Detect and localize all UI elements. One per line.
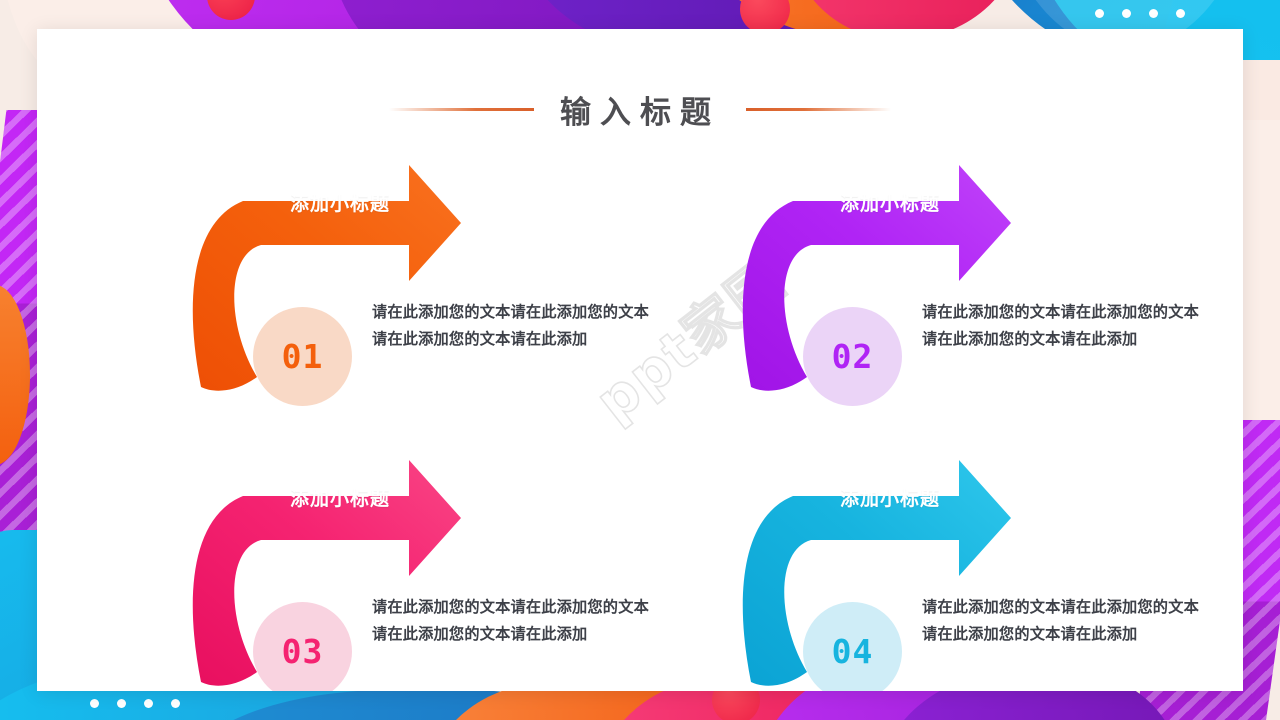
- number-badge-01: 01: [253, 307, 352, 406]
- number-badge-02: 02: [803, 307, 902, 406]
- number-label-02: 02: [832, 337, 874, 376]
- page-title-text: 输入标题: [560, 87, 720, 132]
- dot: [171, 699, 180, 708]
- slide-stage: ppt家园 输入标题 添加小标题 01: [0, 0, 1280, 720]
- block-subtitle-03: 添加小标题: [290, 484, 390, 511]
- number-label-04: 04: [832, 632, 874, 671]
- dot: [144, 699, 153, 708]
- page-title: 输入标题: [37, 87, 1243, 132]
- dot: [117, 699, 126, 708]
- dot: [90, 699, 99, 708]
- block-body-02: 请在此添加您的文本请在此添加您的文本请在此添加您的文本请在此添加: [922, 299, 1212, 353]
- content-block-04[interactable]: 添加小标题 04 请在此添加您的文本请在此添加您的文本请在此添加您的文本请在此添…: [715, 452, 1243, 691]
- dot-row-top: [1095, 9, 1185, 18]
- dot: [1095, 9, 1104, 18]
- block-subtitle-04: 添加小标题: [840, 484, 940, 511]
- block-body-01: 请在此添加您的文本请在此添加您的文本请在此添加您的文本请在此添加: [372, 299, 662, 353]
- content-block-01[interactable]: 添加小标题 01 请在此添加您的文本请在此添加您的文本请在此添加您的文本请在此添…: [165, 157, 725, 407]
- dot: [1122, 9, 1131, 18]
- block-subtitle-01: 添加小标题: [290, 189, 390, 216]
- title-rule-right: [746, 108, 891, 111]
- slide-card: ppt家园 输入标题 添加小标题 01: [37, 29, 1243, 691]
- content-block-02[interactable]: 添加小标题 02 请在此添加您的文本请在此添加您的文本请在此添加您的文本请在此添…: [715, 157, 1243, 407]
- dot-row-bottom: [90, 699, 180, 708]
- number-label-01: 01: [282, 337, 324, 376]
- number-badge-03: 03: [253, 602, 352, 691]
- block-body-04: 请在此添加您的文本请在此添加您的文本请在此添加您的文本请在此添加: [922, 594, 1212, 648]
- block-body-03: 请在此添加您的文本请在此添加您的文本请在此添加您的文本请在此添加: [372, 594, 662, 648]
- dot: [1149, 9, 1158, 18]
- number-label-03: 03: [282, 632, 324, 671]
- number-badge-04: 04: [803, 602, 902, 691]
- title-rule-left: [389, 108, 534, 111]
- block-subtitle-02: 添加小标题: [840, 189, 940, 216]
- content-block-03[interactable]: 添加小标题 03 请在此添加您的文本请在此添加您的文本请在此添加您的文本请在此添…: [165, 452, 725, 691]
- dot: [1176, 9, 1185, 18]
